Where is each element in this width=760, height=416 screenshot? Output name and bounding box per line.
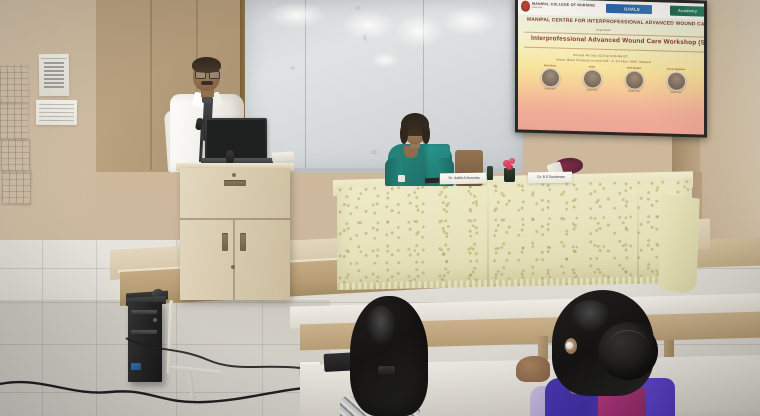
- nameplate-right-label: Dr. B S Sunderam: [531, 175, 571, 179]
- hair-bun-strand: [606, 330, 650, 371]
- podium-knob[interactable]: [231, 265, 235, 269]
- manipal-crest-logo: [521, 0, 530, 11]
- slide-speaker-photo: [625, 70, 644, 90]
- slide-centre-line: MANIPAL CENTRE FOR INTERPROFESSIONAL ADV…: [527, 18, 704, 28]
- presentation-slide: MANIPAL COLLEGE OF NURSING MANIPAL GOALS…: [518, 0, 704, 135]
- wall-panel-seam: [150, 0, 152, 170]
- photograph-scene: MANIPAL COLLEGE OF NURSING MANIPAL GOALS…: [0, 0, 760, 416]
- projection-screen: MANIPAL COLLEGE OF NURSING MANIPAL GOALS…: [515, 0, 707, 138]
- slide-divider: [524, 47, 704, 53]
- seated-guest-hair: [400, 125, 408, 144]
- table-cloth-drape: [658, 194, 699, 295]
- wall-notice-sheet: [1, 139, 30, 171]
- eyeglasses-icon: [195, 71, 206, 79]
- slide-organises-label: Organises: [596, 28, 611, 32]
- podium-handle[interactable]: [222, 233, 228, 251]
- cup: [398, 175, 405, 182]
- slide-speaker-photo: [667, 72, 686, 92]
- slide-speaker-role: Chief Guest: [540, 65, 560, 68]
- slide-speaker-name: Speaker One: [540, 88, 560, 91]
- slide-speaker-photo: [541, 68, 560, 88]
- slide-speaker-card: Course Organiser Speaker Four: [666, 69, 686, 95]
- hair-clip: [378, 366, 395, 375]
- flower: [506, 164, 513, 170]
- slide-speaker-name: Speaker Three: [624, 90, 644, 93]
- podium-divider: [180, 218, 290, 220]
- podium-handle[interactable]: [224, 180, 246, 186]
- cable-run: [0, 330, 340, 416]
- slide-speaker-card: Chief Speaker Speaker Three: [624, 67, 644, 93]
- wall-notice-sheet: [36, 100, 77, 125]
- presenter-moustache: [201, 81, 213, 85]
- mobile-phone: [425, 178, 439, 183]
- laptop-display: [207, 120, 265, 158]
- whiteboard: [245, 0, 523, 172]
- wall-notice-text-block: [44, 62, 64, 88]
- wall-notice-sheet: [2, 170, 32, 205]
- slide-academy-badge-label: Academy: [678, 8, 697, 14]
- water-bottle: [487, 166, 493, 180]
- right-wall: [700, 0, 760, 255]
- podium-door-seam: [233, 220, 235, 300]
- hair-highlight: [570, 300, 610, 332]
- pc-drive-bay: [131, 310, 157, 314]
- podium: [180, 168, 290, 300]
- flower-vase: [504, 168, 515, 182]
- slide-speaker-name: Speaker Four: [666, 92, 686, 95]
- papers: [272, 151, 295, 162]
- earring: [566, 342, 573, 349]
- power-button[interactable]: [153, 318, 157, 322]
- podium-knob[interactable]: [232, 173, 236, 177]
- microphone-head: [226, 150, 234, 164]
- audience-arm: [516, 356, 550, 382]
- nameplate-left-label: Dr. Judith A Noronha: [443, 176, 485, 180]
- slide-speaker-card: Chief Guest Speaker One: [540, 65, 560, 91]
- slide-speaker-name: Speaker Two: [582, 89, 602, 92]
- podium-handle[interactable]: [240, 233, 246, 251]
- slide-venue-line: Venue: Basic Sciences Lecture Hall - 2, …: [556, 57, 651, 64]
- slide-speaker-role: Course Organiser: [666, 69, 686, 72]
- eyeglasses-icon: [209, 71, 220, 79]
- slide-institution-subtitle: MANIPAL: [532, 6, 543, 8]
- slide-speaker-role: Chief Speaker: [624, 67, 644, 70]
- table-cloth: [337, 179, 692, 290]
- slide-speaker-role: Guest: [582, 66, 602, 69]
- seated-guest-hair: [422, 125, 430, 144]
- wall-notice-sheet: [0, 103, 28, 139]
- slide-speaker-card: Guest Speaker Two: [582, 66, 602, 92]
- wall-notice-sheet: [0, 65, 28, 103]
- laptop[interactable]: [205, 118, 267, 160]
- slide-sdg-badge-label: GOALS: [624, 6, 640, 11]
- hair-highlight: [366, 306, 396, 346]
- slide-speaker-photo: [583, 69, 602, 89]
